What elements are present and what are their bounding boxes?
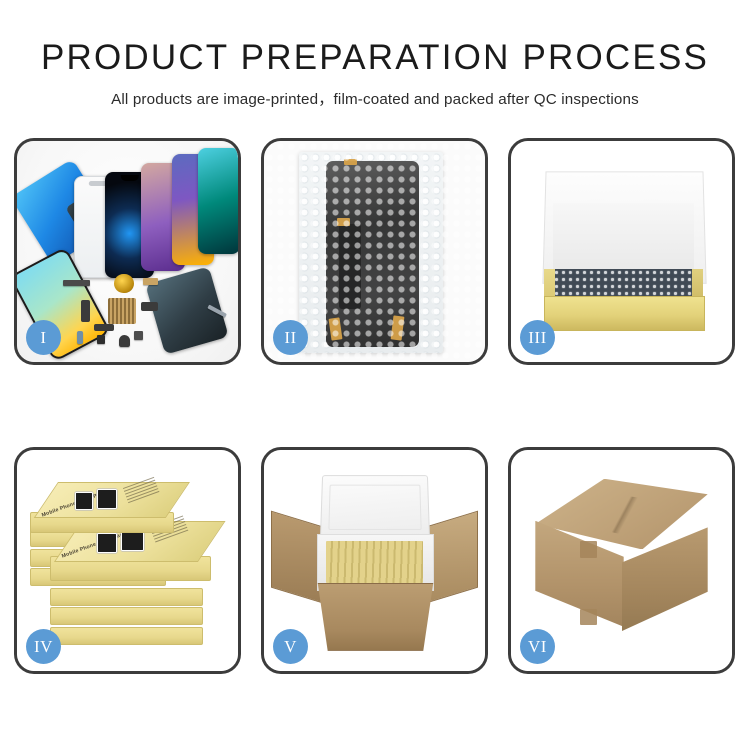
small-part-bar [63, 280, 90, 286]
gold-camera-ring [114, 274, 134, 294]
foam-sheet [553, 203, 694, 272]
tape-top [344, 159, 357, 166]
step-badge-3: III [520, 320, 555, 355]
connector-part-a [97, 335, 106, 344]
process-step-card-5[interactable]: V [261, 447, 488, 674]
process-step-card-6[interactable]: VI [508, 447, 735, 674]
process-step-card-3[interactable]: III [508, 138, 735, 365]
connector-part-b [134, 331, 143, 340]
process-step-card-4[interactable]: Mobile Phone Spare Parts Mobile Phone Sp… [14, 447, 241, 674]
flex-cable-a [81, 300, 90, 322]
teal-gradient-phone [198, 148, 238, 254]
carton-tape-lower [580, 609, 598, 624]
process-step-card-1[interactable]: I [14, 138, 241, 365]
step-badge-4: IV [26, 629, 61, 664]
header: PRODUCT PREPARATION PROCESS All products… [0, 38, 750, 109]
box-label-window-rear-a [75, 492, 93, 510]
step-badge-1: I [26, 320, 61, 355]
flex-cable-b [94, 324, 114, 331]
contact-grid-chip [108, 298, 137, 325]
tape-middle [337, 218, 350, 226]
foam-box-lid [320, 475, 430, 540]
yellow-boxes-inside [326, 541, 423, 583]
step-badge-2: II [273, 320, 308, 355]
screen-assembly-inside [326, 161, 419, 347]
flex-cable-c [141, 302, 159, 311]
carton-tape-upper [580, 541, 598, 559]
box-front-yellow [544, 296, 705, 331]
stack-box-body-2 [50, 607, 202, 625]
page-subtitle: All products are image-printed，film-coat… [0, 87, 750, 109]
box-label-window-front-a [97, 533, 117, 553]
step-badge-5: V [273, 629, 308, 664]
box-stack: Mobile Phone Spare Parts Mobile Phone Sp… [26, 477, 229, 654]
bubble-wrapped-contents [553, 269, 694, 298]
small-part-gold [143, 278, 158, 285]
page-title: PRODUCT PREPARATION PROCESS [0, 38, 750, 78]
speaker-part [119, 335, 130, 346]
sim-tray-part [77, 331, 84, 344]
box-label-window-rear-b [97, 489, 117, 509]
carton-body [313, 583, 439, 651]
process-step-grid: I II III [14, 138, 736, 674]
step-badge-6: VI [520, 629, 555, 664]
process-step-card-2[interactable]: II [261, 138, 488, 365]
stack-box-body-3 [50, 588, 202, 606]
product-preparation-infographic: PRODUCT PREPARATION PROCESS All products… [0, 0, 750, 750]
stack-box-body-1 [50, 627, 202, 645]
